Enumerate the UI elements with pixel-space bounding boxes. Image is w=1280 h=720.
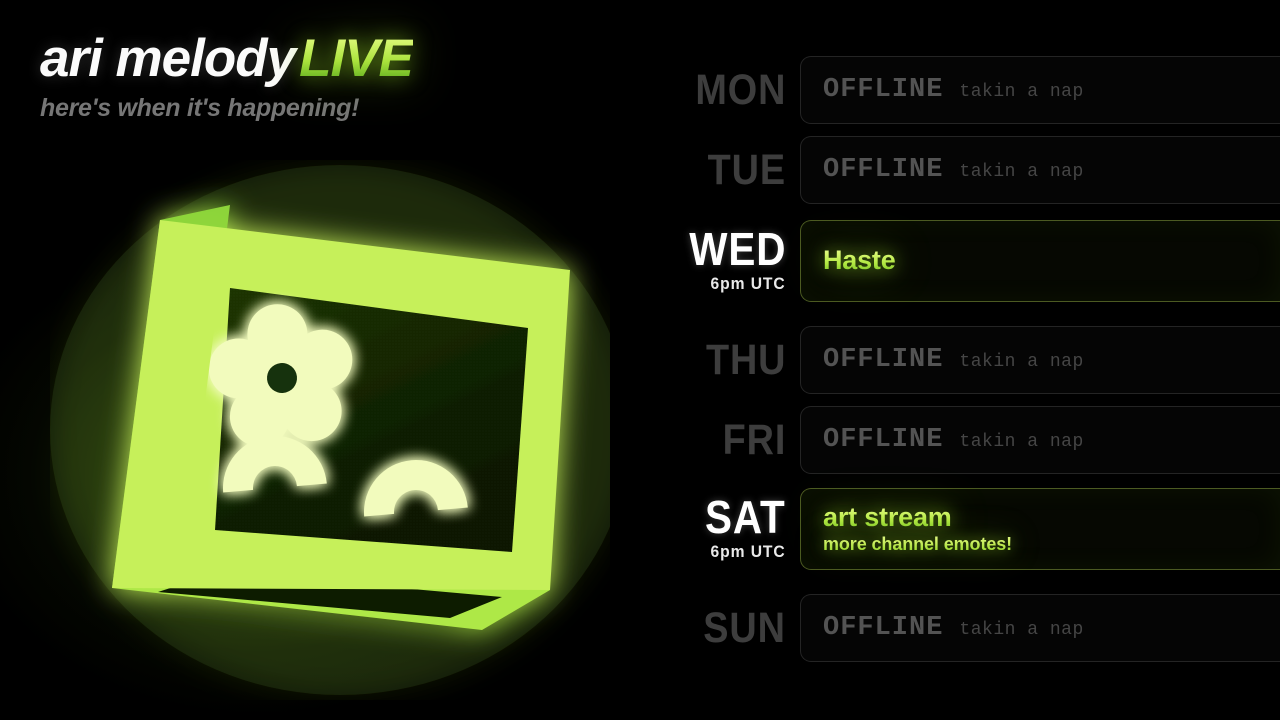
schedule-row-mon[interactable]: MON OFFLINE takin a nap (640, 56, 1280, 124)
event-title: Haste (823, 246, 896, 276)
offline-status: OFFLINE (823, 613, 943, 643)
day-column: SUN (640, 608, 800, 649)
day-column: TUE (640, 150, 800, 191)
day-column: FRI (640, 420, 800, 461)
stream-time: 6pm UTC (711, 542, 786, 562)
schedule-row-wed[interactable]: WED 6pm UTC Haste (640, 220, 1280, 302)
offline-status: OFFLINE (823, 155, 943, 185)
day-label: SUN (703, 608, 786, 649)
day-label: MON (695, 70, 786, 111)
schedule-row-thu[interactable]: THU OFFLINE takin a nap (640, 326, 1280, 394)
title-channel-name: ari melody (40, 29, 295, 88)
schedule-row-sat[interactable]: SAT 6pm UTC art stream more channel emot… (640, 488, 1280, 570)
mascot-logo (50, 160, 610, 700)
schedule-list: MON OFFLINE takin a nap TUE OFFLINE taki… (640, 42, 1280, 682)
day-column: SAT 6pm UTC (640, 496, 800, 562)
status-box[interactable]: OFFLINE takin a nap (800, 594, 1280, 662)
event-box[interactable]: art stream more channel emotes! (800, 488, 1280, 570)
day-label: WED (689, 228, 786, 272)
offline-status: OFFLINE (823, 75, 943, 105)
status-box[interactable]: OFFLINE takin a nap (800, 56, 1280, 124)
offline-status: OFFLINE (823, 425, 943, 455)
event-subtitle: more channel emotes! (823, 534, 1012, 555)
page-subtitle: here's when it's happening! (40, 94, 413, 123)
header: ari melodyLIVE here's when it's happenin… (40, 32, 413, 123)
status-box[interactable]: OFFLINE takin a nap (800, 406, 1280, 474)
offline-note: takin a nap (959, 432, 1083, 452)
offline-note: takin a nap (959, 82, 1083, 102)
day-column: WED 6pm UTC (640, 228, 800, 294)
title-live-badge: LIVE (299, 29, 413, 88)
day-column: MON (640, 70, 800, 111)
status-box[interactable]: OFFLINE takin a nap (800, 136, 1280, 204)
event-box[interactable]: Haste (800, 220, 1280, 302)
schedule-row-fri[interactable]: FRI OFFLINE takin a nap (640, 406, 1280, 474)
day-label: SAT (705, 496, 786, 540)
event-title: art stream (823, 503, 952, 533)
offline-status: OFFLINE (823, 345, 943, 375)
day-column: THU (640, 340, 800, 381)
page-title: ari melodyLIVE (40, 32, 413, 86)
stream-time: 6pm UTC (711, 274, 786, 294)
status-box[interactable]: OFFLINE takin a nap (800, 326, 1280, 394)
schedule-row-sun[interactable]: SUN OFFLINE takin a nap (640, 594, 1280, 662)
offline-note: takin a nap (959, 352, 1083, 372)
offline-note: takin a nap (959, 620, 1083, 640)
day-label: THU (706, 340, 786, 381)
day-label: FRI (722, 420, 786, 461)
offline-note: takin a nap (959, 162, 1083, 182)
schedule-row-tue[interactable]: TUE OFFLINE takin a nap (640, 136, 1280, 204)
day-label: TUE (708, 150, 786, 191)
